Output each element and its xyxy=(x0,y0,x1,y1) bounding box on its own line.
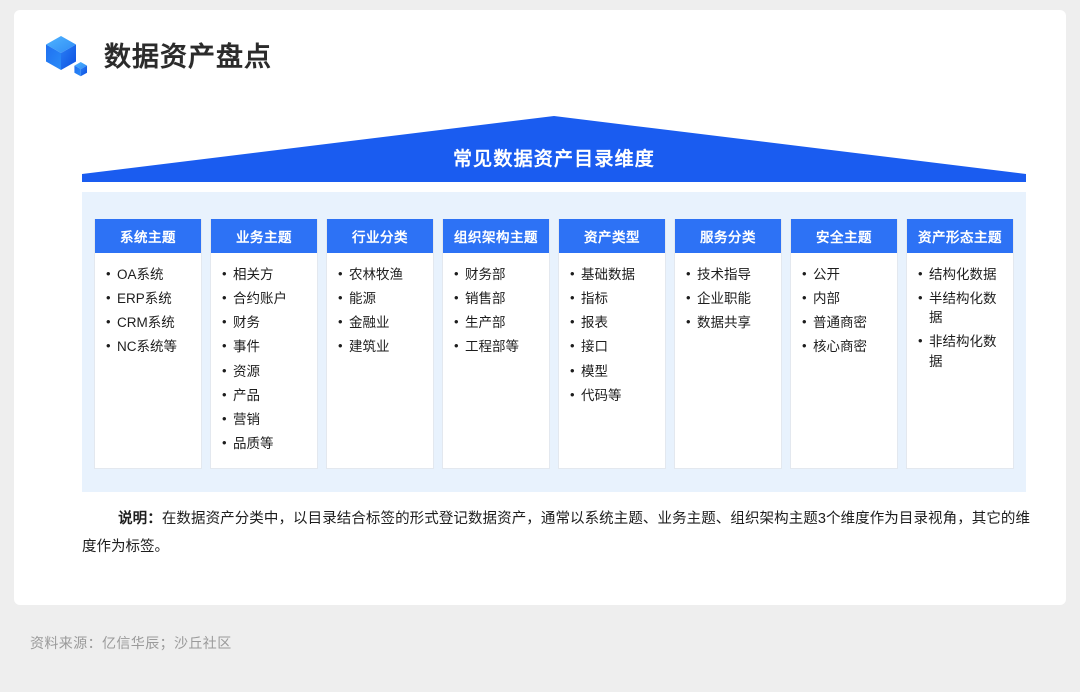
slide-card: 数据资产盘点 常见数据资产目录维度 系统主题 OA系统 ERP系统 CRM系统 … xyxy=(14,10,1066,605)
list-item: 资源 xyxy=(222,362,309,381)
banner-title: 常见数据资产目录维度 xyxy=(82,116,1026,182)
list-item: 营销 xyxy=(222,410,309,429)
note-text: 在数据资产分类中，以目录结合标签的形式登记数据资产，通常以系统主题、业务主题、组… xyxy=(82,511,1030,555)
list-item: 接口 xyxy=(570,337,657,356)
list-item: CRM系统 xyxy=(106,313,193,332)
list-item: 指标 xyxy=(570,289,657,308)
column-items: 财务部 销售部 生产部 工程部等 xyxy=(443,253,549,468)
column-items: 技术指导 企业职能 数据共享 xyxy=(675,253,781,468)
column-items: 相关方 合约账户 财务 事件 资源 产品 营销 品质等 xyxy=(211,253,317,468)
dimension-column-service[interactable]: 服务分类 技术指导 企业职能 数据共享 xyxy=(674,219,782,469)
list-item: 能源 xyxy=(338,289,425,308)
list-item: 建筑业 xyxy=(338,337,425,356)
dimension-column-org[interactable]: 组织架构主题 财务部 销售部 生产部 工程部等 xyxy=(442,219,550,469)
list-item: 财务部 xyxy=(454,265,541,284)
list-item: 相关方 xyxy=(222,265,309,284)
list-item: 金融业 xyxy=(338,313,425,332)
dimension-column-system[interactable]: 系统主题 OA系统 ERP系统 CRM系统 NC系统等 xyxy=(94,219,202,469)
list-item: 半结构化数据 xyxy=(918,289,1005,327)
list-item: 技术指导 xyxy=(686,265,773,284)
dimension-column-security[interactable]: 安全主题 公开 内部 普通商密 核心商密 xyxy=(790,219,898,469)
column-items: 农林牧渔 能源 金融业 建筑业 xyxy=(327,253,433,468)
dimension-column-asset-form[interactable]: 资产形态主题 结构化数据 半结构化数据 非结构化数据 xyxy=(906,219,1014,469)
list-item: 非结构化数据 xyxy=(918,332,1005,370)
list-item: 报表 xyxy=(570,313,657,332)
source-line: 资料来源：亿信华辰；沙丘社区 xyxy=(30,633,232,653)
dimension-column-asset-type[interactable]: 资产类型 基础数据 指标 报表 接口 模型 代码等 xyxy=(558,219,666,469)
list-item: 生产部 xyxy=(454,313,541,332)
list-item: 工程部等 xyxy=(454,337,541,356)
page-header: 数据资产盘点 xyxy=(44,34,272,80)
column-items: 公开 内部 普通商密 核心商密 xyxy=(791,253,897,468)
column-items: 结构化数据 半结构化数据 非结构化数据 xyxy=(907,253,1013,468)
dimension-columns: 系统主题 OA系统 ERP系统 CRM系统 NC系统等 业务主题 相关方 合约账… xyxy=(94,219,1014,469)
column-header: 业务主题 xyxy=(211,219,317,253)
list-item: 普通商密 xyxy=(802,313,889,332)
list-item: 核心商密 xyxy=(802,337,889,356)
page-title: 数据资产盘点 xyxy=(104,44,272,71)
slide-root: 数据资产盘点 常见数据资产目录维度 系统主题 OA系统 ERP系统 CRM系统 … xyxy=(0,0,1080,692)
note-paragraph: 说明：在数据资产分类中，以目录结合标签的形式登记数据资产，通常以系统主题、业务主… xyxy=(82,505,1030,562)
dimension-column-industry[interactable]: 行业分类 农林牧渔 能源 金融业 建筑业 xyxy=(326,219,434,469)
list-item: 企业职能 xyxy=(686,289,773,308)
list-item: 合约账户 xyxy=(222,289,309,308)
note-label: 说明： xyxy=(118,511,162,527)
list-item: 代码等 xyxy=(570,386,657,405)
list-item: 销售部 xyxy=(454,289,541,308)
column-header: 组织架构主题 xyxy=(443,219,549,253)
list-item: 模型 xyxy=(570,362,657,381)
cube-logo-icon xyxy=(44,34,90,80)
list-item: 公开 xyxy=(802,265,889,284)
list-item: 数据共享 xyxy=(686,313,773,332)
banner-roof: 常见数据资产目录维度 xyxy=(82,116,1026,182)
list-item: 品质等 xyxy=(222,434,309,453)
list-item: 基础数据 xyxy=(570,265,657,284)
list-item: 事件 xyxy=(222,337,309,356)
list-item: 财务 xyxy=(222,313,309,332)
list-item: 产品 xyxy=(222,386,309,405)
column-header: 安全主题 xyxy=(791,219,897,253)
column-header: 资产类型 xyxy=(559,219,665,253)
dimension-column-business[interactable]: 业务主题 相关方 合约账户 财务 事件 资源 产品 营销 品质等 xyxy=(210,219,318,469)
list-item: 结构化数据 xyxy=(918,265,1005,284)
column-header: 行业分类 xyxy=(327,219,433,253)
column-items: 基础数据 指标 报表 接口 模型 代码等 xyxy=(559,253,665,468)
column-items: OA系统 ERP系统 CRM系统 NC系统等 xyxy=(95,253,201,468)
column-header: 系统主题 xyxy=(95,219,201,253)
column-header: 服务分类 xyxy=(675,219,781,253)
column-header: 资产形态主题 xyxy=(907,219,1013,253)
list-item: OA系统 xyxy=(106,265,193,284)
list-item: ERP系统 xyxy=(106,289,193,308)
list-item: 农林牧渔 xyxy=(338,265,425,284)
list-item: 内部 xyxy=(802,289,889,308)
list-item: NC系统等 xyxy=(106,337,193,356)
